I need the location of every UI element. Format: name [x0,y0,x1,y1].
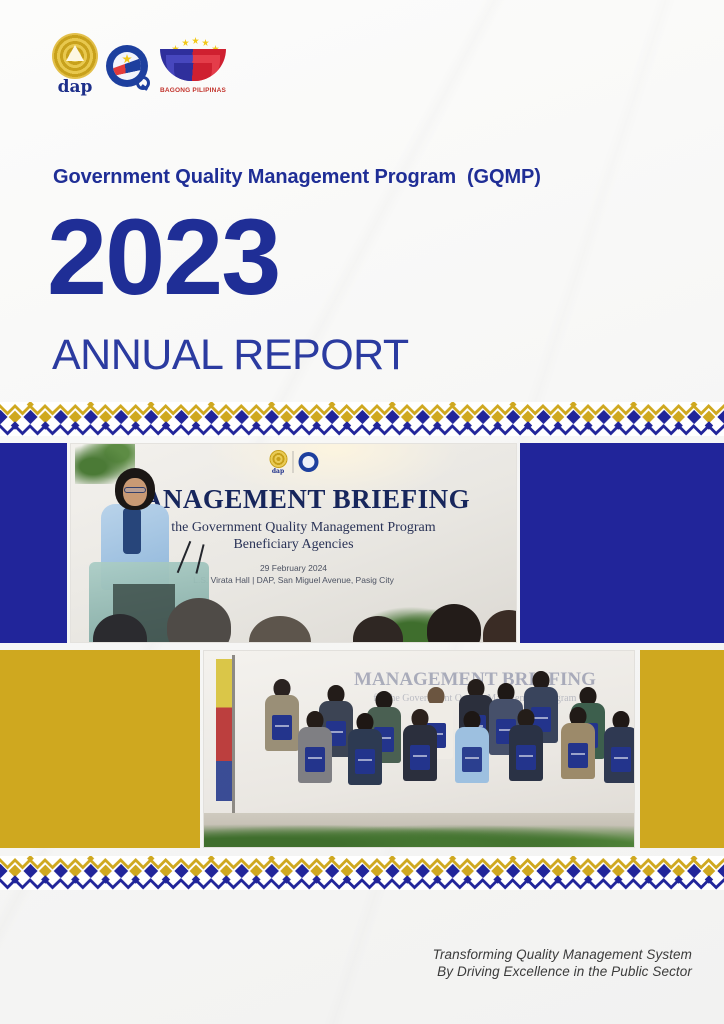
border-pattern-bottom [0,856,724,890]
tagline: Transforming Quality Management System B… [433,946,692,980]
border-pattern-top [0,402,724,436]
group-person-seated [504,709,548,807]
bp-wordmark: BAGONG PILIPINAS [156,87,230,94]
dap-wordmark: dap [52,80,98,95]
navy-block-right [520,443,724,643]
gold-block-right [640,650,724,848]
group-person-seated [294,711,336,807]
dap-mark-icon [52,33,98,79]
bp-swoosh-icon [160,49,226,81]
briefing-dap-wordmark: dap [269,468,287,475]
program-title: Government Quality Management Program (G… [53,166,541,189]
group-person-seated [450,711,494,809]
briefing-gqmp-seal-icon [298,452,318,472]
q-letter-icon [136,76,150,90]
group-person-seated [556,707,600,807]
group-photo: MANAGEMENT BRIEFING for the Government Q… [203,650,635,848]
philippine-flag-icon [216,659,232,801]
report-label: ANNUAL REPORT [52,333,409,377]
tagline-line-2: By Driving Excellence in the Public Sect… [433,963,692,980]
briefing-photo: dap MANAGEMENT BRIEFING for the Governme… [70,443,517,643]
group-person-seated [344,713,386,807]
report-year: 2023 [47,203,279,311]
group-person-seated [398,709,442,807]
dap-logo: dap [52,33,98,95]
group-person-seated [600,711,635,807]
tagline-line-1: Transforming Quality Management System [433,946,692,963]
eyeglasses-icon [124,487,146,493]
gqmp-seal-inner [113,52,141,80]
gold-block-left [0,650,200,848]
briefing-banner-logos: dap [269,450,318,474]
flag-pole [232,655,235,815]
navy-block-left [0,443,67,643]
gqmp-seal-icon [106,45,148,87]
briefing-dap-logo-icon: dap [269,450,287,474]
logo-bar: dap BAGONG PILIPINAS [52,33,230,95]
foreground-plants-icon [204,817,634,847]
gqmp-seal-logo [105,37,149,95]
bagong-pilipinas-logo: BAGONG PILIPINAS [156,35,230,95]
divider [292,451,293,473]
